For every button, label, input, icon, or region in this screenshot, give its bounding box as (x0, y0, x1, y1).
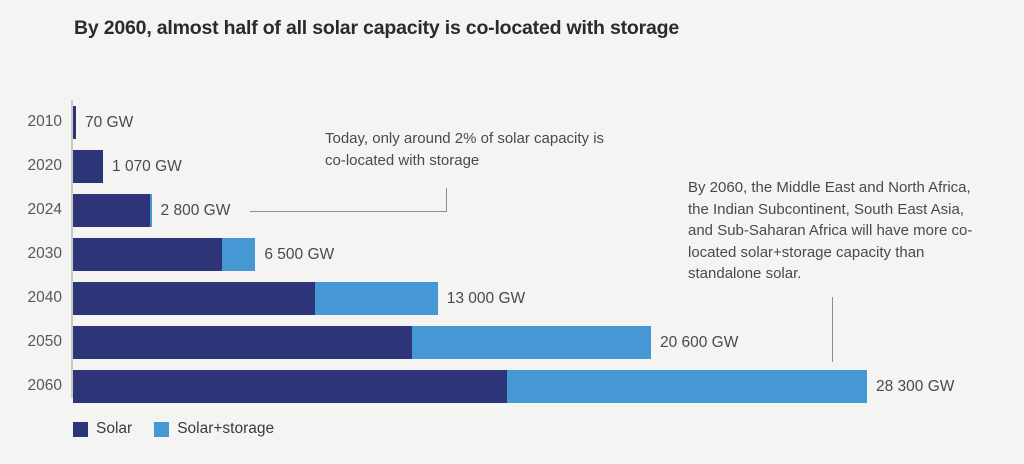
bar-segment-solar[interactable] (73, 326, 412, 359)
bar-segment-solar[interactable] (73, 150, 103, 183)
leader-line-today-horizontal (250, 211, 447, 212)
bar-segment-solar-storage[interactable] (150, 194, 152, 227)
stacked-bar[interactable] (73, 150, 103, 183)
bar-segment-solar[interactable] (73, 238, 222, 271)
year-axis-label: 2050 (0, 320, 62, 364)
annotation-today-share: Today, only around 2% of solar capacity … (325, 128, 625, 171)
year-axis-label: 2060 (0, 364, 62, 408)
bar-segment-solar[interactable] (73, 370, 507, 403)
stacked-bar[interactable] (73, 106, 76, 139)
legend-label: Solar (96, 420, 132, 438)
year-axis-label: 2024 (0, 188, 62, 232)
bar-segment-solar-storage[interactable] (222, 238, 255, 271)
chart-title: By 2060, almost half of all solar capaci… (74, 17, 679, 40)
bar-row: 205020 600 GW (0, 320, 1024, 364)
bar-segment-solar-storage[interactable] (412, 326, 651, 359)
annotation-regions-2060: By 2060, the Middle East and North Afric… (688, 177, 993, 285)
bar-value-label: 6 500 GW (264, 238, 334, 271)
bar-value-label: 13 000 GW (447, 282, 525, 315)
leader-line-today-vertical (446, 188, 447, 211)
year-axis-label: 2040 (0, 276, 62, 320)
legend-swatch-icon (73, 422, 88, 437)
chart-legend: SolarSolar+storage (73, 420, 274, 438)
chart-container: By 2060, almost half of all solar capaci… (0, 0, 1024, 464)
legend-label: Solar+storage (177, 420, 274, 438)
bar-row: 206028 300 GW (0, 364, 1024, 408)
bar-value-label: 28 300 GW (876, 370, 954, 403)
leader-line-regions-vertical (832, 297, 833, 362)
bar-segment-solar[interactable] (73, 106, 76, 139)
bar-value-label: 70 GW (85, 106, 133, 139)
bar-value-label: 20 600 GW (660, 326, 738, 359)
stacked-bar[interactable] (73, 238, 255, 271)
bar-segment-solar[interactable] (73, 282, 315, 315)
year-axis-label: 2030 (0, 232, 62, 276)
legend-item[interactable]: Solar (73, 420, 132, 438)
stacked-bar[interactable] (73, 370, 867, 403)
bar-value-label: 2 800 GW (161, 194, 231, 227)
legend-item[interactable]: Solar+storage (154, 420, 274, 438)
year-axis-label: 2020 (0, 144, 62, 188)
year-axis-label: 2010 (0, 100, 62, 144)
stacked-bar[interactable] (73, 326, 651, 359)
bar-value-label: 1 070 GW (112, 150, 182, 183)
bar-segment-solar-storage[interactable] (315, 282, 438, 315)
legend-swatch-icon (154, 422, 169, 437)
bar-segment-solar-storage[interactable] (507, 370, 867, 403)
bar-segment-solar[interactable] (73, 194, 150, 227)
stacked-bar[interactable] (73, 194, 152, 227)
stacked-bar[interactable] (73, 282, 438, 315)
